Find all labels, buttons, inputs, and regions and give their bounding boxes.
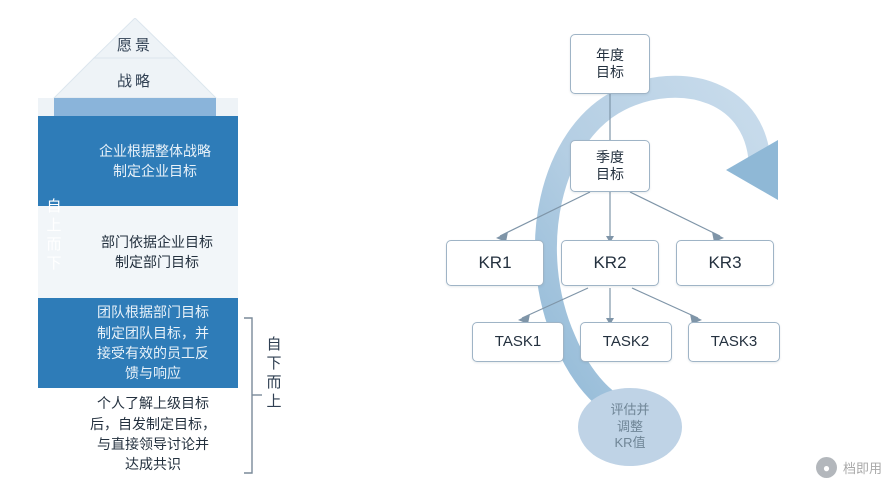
okr-diagram: 年度 目标 季度 目标 KR1 KR2 KR3 TASK1 TASK2 TASK… (430, 0, 896, 490)
band-team: 团队根据部门目标 制定团队目标，并 接受有效的员工反 馈与响应 (68, 298, 238, 388)
watermark-text: 档即用 (843, 458, 882, 477)
node-task1[interactable]: TASK1 (472, 322, 564, 362)
right-vertical-label: 自下而上 (264, 336, 281, 466)
roof-strategy-label: 战略 (90, 70, 180, 91)
diagram-canvas: 愿景 战略 企业根据整体战略 制定企业目标 部门依据企业目标 制定部门目标 团队… (0, 0, 896, 490)
band-individual: 个人了解上级目标 后，自发制定目标， 与直接领导讨论并 达成共识 (68, 388, 238, 480)
node-task2[interactable]: TASK2 (580, 322, 672, 362)
pyramid-diagram: 愿景 战略 企业根据整体战略 制定企业目标 部门依据企业目标 制定部门目标 团队… (38, 18, 308, 480)
node-review[interactable]: 评估并 调整 KR值 (578, 388, 682, 466)
edge-kr2-task3 (632, 288, 698, 318)
band-company: 企业根据整体战略 制定企业目标 (72, 116, 238, 206)
right-bracket (244, 318, 252, 473)
roof-vision-label: 愿景 (90, 34, 180, 55)
left-vertical-label: 自上而下 (44, 198, 61, 388)
node-kr1[interactable]: KR1 (446, 240, 544, 286)
node-annual-goal[interactable]: 年度 目标 (570, 34, 650, 94)
node-kr3[interactable]: KR3 (676, 240, 774, 286)
edge-quarter-kr3 (630, 192, 720, 236)
node-quarter-goal[interactable]: 季度 目标 (570, 140, 650, 192)
node-kr2[interactable]: KR2 (561, 240, 659, 286)
node-task3[interactable]: TASK3 (688, 322, 780, 362)
watermark: ● 档即用 (816, 457, 882, 478)
band-individual-label: 个人了解上级目标 后，自发制定目标， 与直接领导讨论并 达成共识 (90, 393, 216, 474)
band-team-label: 团队根据部门目标 制定团队目标，并 接受有效的员工反 馈与响应 (97, 302, 209, 383)
chat-icon: ● (816, 457, 837, 478)
band-department-label: 部门依据企业目标 制定部门目标 (101, 232, 213, 273)
band-company-label: 企业根据整体战略 制定企业目标 (99, 141, 211, 182)
band-department: 部门依据企业目标 制定部门目标 (76, 206, 238, 298)
